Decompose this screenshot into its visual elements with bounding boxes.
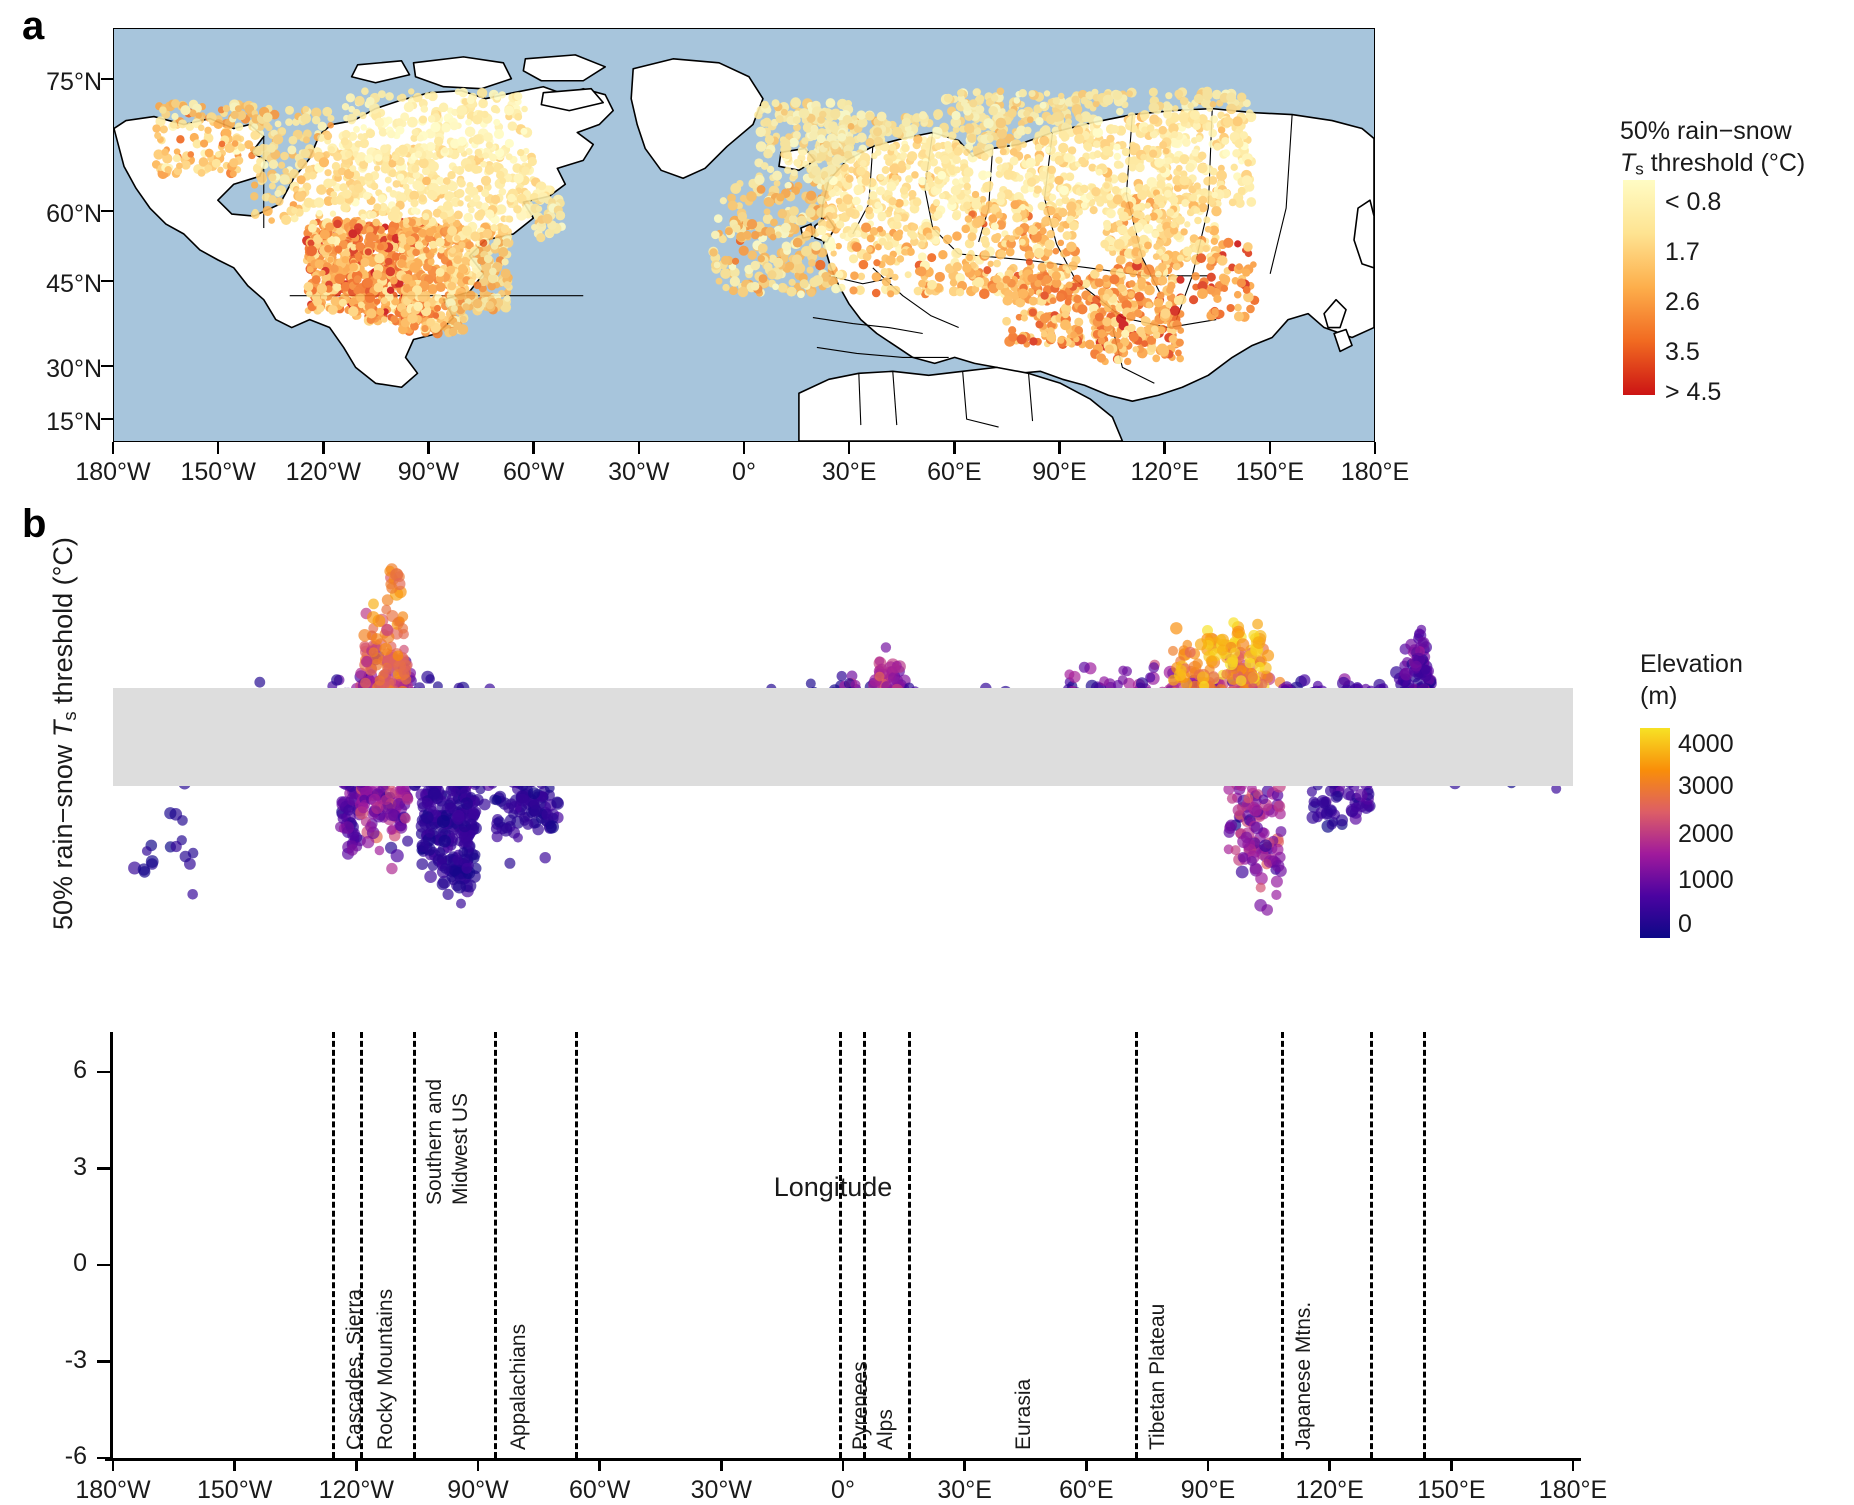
lon-tick-mark — [322, 442, 324, 454]
ylabel-sub: s — [59, 711, 80, 720]
region-divider-line — [1423, 1032, 1426, 1458]
region-label: Japanese Mtns. — [1292, 1302, 1316, 1450]
x-tick-mark — [477, 1458, 480, 1471]
x-tick-mark — [598, 1458, 601, 1471]
colorbar-a: < 0.8 1.7 2.6 3.5 > 4.5 — [1623, 180, 1853, 395]
colorbar-b-tick-3000: 3000 — [1678, 772, 1734, 801]
colorbar-a-tick-0: < 0.8 — [1665, 188, 1721, 217]
lat-tick-75n: 75°N — [12, 68, 102, 97]
x-tick-mark — [1450, 1458, 1453, 1471]
lon-tick-label: 180°W — [53, 458, 173, 487]
x-tick-mark — [112, 1458, 115, 1471]
y-tick-mark — [97, 1264, 111, 1267]
region-label: Midwest US — [449, 1093, 473, 1205]
y-tick-mark — [97, 1457, 111, 1460]
region-label: Cascades, Sierra — [343, 1289, 367, 1450]
lon-tick-mark — [112, 442, 114, 454]
region-label: Tibetan Plateau — [1146, 1304, 1170, 1450]
ylabel-post: threshold (°C) — [48, 537, 78, 711]
x-tick-mark — [1207, 1458, 1210, 1471]
lon-tick-label: 30°E — [789, 458, 909, 487]
colorbar-a-labels: < 0.8 1.7 2.6 3.5 > 4.5 — [1665, 180, 1845, 395]
map-svg — [114, 29, 1374, 441]
lat-tick-mark — [101, 78, 113, 80]
colorbar-b-labels: 4000 3000 2000 1000 0 — [1678, 728, 1848, 938]
region-divider-line — [839, 1032, 842, 1458]
region-label: Alps — [874, 1409, 898, 1450]
panel-b-scatter: b 50% rain−snow Ts threshold (°C) 630-3-… — [0, 500, 1854, 1214]
lon-tick-label: 150°E — [1210, 458, 1330, 487]
y-tick-mark — [97, 1167, 111, 1170]
region-label: Pyrenees — [849, 1361, 873, 1450]
lat-tick-mark — [101, 365, 113, 367]
lon-tick-label: 60°W — [474, 458, 594, 487]
lat-tick-30n: 30°N — [12, 355, 102, 384]
y-tick-label: -3 — [27, 1346, 87, 1375]
region-divider-line — [1281, 1032, 1284, 1458]
x-tick-mark — [1328, 1458, 1331, 1471]
lat-tick-15n: 15°N — [12, 408, 102, 437]
x-tick-mark — [1572, 1458, 1575, 1471]
lon-tick-mark — [1163, 442, 1165, 454]
region-divider-line — [332, 1032, 335, 1458]
colorbar-b-tick-1000: 1000 — [1678, 866, 1734, 895]
x-tick-label: 90°W — [413, 1476, 543, 1505]
lon-tick-mark — [1058, 442, 1060, 454]
y-tick-label: 6 — [27, 1056, 87, 1085]
x-tick-mark — [355, 1458, 358, 1471]
region-label: Southern and — [423, 1079, 447, 1205]
lon-tick-mark — [1374, 442, 1376, 454]
x-tick-mark — [720, 1458, 723, 1471]
world-map — [113, 28, 1375, 442]
lon-tick-mark — [532, 442, 534, 454]
region-label: Appalachians — [507, 1324, 531, 1450]
colorbar-a-title-line1: 50% rain−snow — [1620, 117, 1792, 145]
lon-tick-label: 150°W — [158, 458, 278, 487]
y-tick-label: 3 — [27, 1153, 87, 1182]
colorbar-b-tick-4000: 4000 — [1678, 730, 1734, 759]
region-divider-line — [575, 1032, 578, 1458]
panel-a-letter: a — [22, 6, 44, 46]
lon-tick-label: 90°E — [1000, 458, 1120, 487]
colorbar-b-gradient — [1640, 728, 1670, 938]
x-tick-label: 30°E — [900, 1476, 1030, 1505]
region-label: Eurasia — [1012, 1379, 1036, 1450]
shaded-sd-band — [113, 688, 1573, 786]
x-tick-label: 120°W — [291, 1476, 421, 1505]
x-tick-mark — [963, 1458, 966, 1471]
panel-b-ylabel: 50% rain−snow Ts threshold (°C) — [48, 537, 81, 930]
y-tick-mark — [97, 1360, 111, 1363]
colorbar-a-title-ts: T — [1620, 149, 1635, 177]
y-tick-label: 0 — [27, 1249, 87, 1278]
lat-tick-mark — [101, 418, 113, 420]
colorbar-a-tick-1: 1.7 — [1665, 238, 1700, 267]
panel-b-plot-area — [113, 540, 1573, 958]
y-tick-label: -6 — [27, 1442, 87, 1471]
region-divider-line — [413, 1032, 416, 1458]
lon-tick-label: 30°W — [579, 458, 699, 487]
x-tick-label: 120°E — [1265, 1476, 1395, 1505]
lon-tick-label: 180°E — [1315, 458, 1435, 487]
lon-tick-mark — [638, 442, 640, 454]
ylabel-pre: 50% rain−snow — [48, 737, 78, 930]
lon-tick-mark — [1269, 442, 1271, 454]
x-tick-label: 90°E — [1143, 1476, 1273, 1505]
lat-tick-mark — [101, 210, 113, 212]
colorbar-a-gradient — [1623, 180, 1655, 395]
x-tick-label: 60°W — [535, 1476, 665, 1505]
x-tick-label: 30°W — [656, 1476, 786, 1505]
colorbar-a-tick-4: > 4.5 — [1665, 378, 1721, 407]
lat-tick-45n: 45°N — [12, 270, 102, 299]
panel-b-letter: b — [22, 504, 46, 544]
lon-tick-mark — [743, 442, 745, 454]
panel-a-map: a — [0, 0, 1854, 500]
x-tick-label: 180°E — [1508, 1476, 1638, 1505]
x-tick-mark — [842, 1458, 845, 1471]
x-tick-mark — [1085, 1458, 1088, 1471]
y-tick-mark — [97, 1071, 111, 1074]
x-tick-mark — [233, 1458, 236, 1471]
region-divider-line — [908, 1032, 911, 1458]
colorbar-a-tick-3: 3.5 — [1665, 338, 1700, 367]
panel-b-xlabel: Longitude — [713, 1172, 953, 1203]
colorbar-a-title-sub: s — [1635, 160, 1644, 179]
region-label: Rocky Mountains — [374, 1289, 398, 1450]
colorbar-a-tick-2: 2.6 — [1665, 288, 1700, 317]
x-tick-label: 180°W — [48, 1476, 178, 1505]
lon-tick-mark — [848, 442, 850, 454]
region-divider-line — [1135, 1032, 1138, 1458]
colorbar-b-title: Elevation (m) — [1640, 648, 1743, 712]
lon-tick-label: 90°W — [369, 458, 489, 487]
panel-b-plot-inner — [113, 540, 1573, 958]
colorbar-b-tick-0: 0 — [1678, 910, 1692, 939]
lon-tick-mark — [953, 442, 955, 454]
colorbar-a-title-rest: threshold (°C) — [1644, 149, 1805, 177]
ylabel-ts: T — [48, 721, 78, 738]
region-divider-line — [1370, 1032, 1373, 1458]
x-tick-label: 0° — [778, 1476, 908, 1505]
lon-tick-mark — [217, 442, 219, 454]
colorbar-b-tick-2000: 2000 — [1678, 820, 1734, 849]
region-divider-line — [494, 1032, 497, 1458]
lon-tick-label: 120°E — [1105, 458, 1225, 487]
lon-tick-mark — [427, 442, 429, 454]
x-tick-label: 150°W — [170, 1476, 300, 1505]
panel-b-y-axis-line — [110, 1032, 113, 1458]
lat-tick-mark — [101, 280, 113, 282]
lon-tick-label: 60°E — [894, 458, 1014, 487]
lon-tick-label: 120°W — [263, 458, 383, 487]
colorbar-a-title: 50% rain−snow Ts threshold (°C) — [1620, 115, 1854, 180]
lon-tick-label: 0° — [684, 458, 804, 487]
x-tick-label: 150°E — [1386, 1476, 1516, 1505]
lat-tick-60n: 60°N — [12, 200, 102, 229]
x-tick-label: 60°E — [1021, 1476, 1151, 1505]
